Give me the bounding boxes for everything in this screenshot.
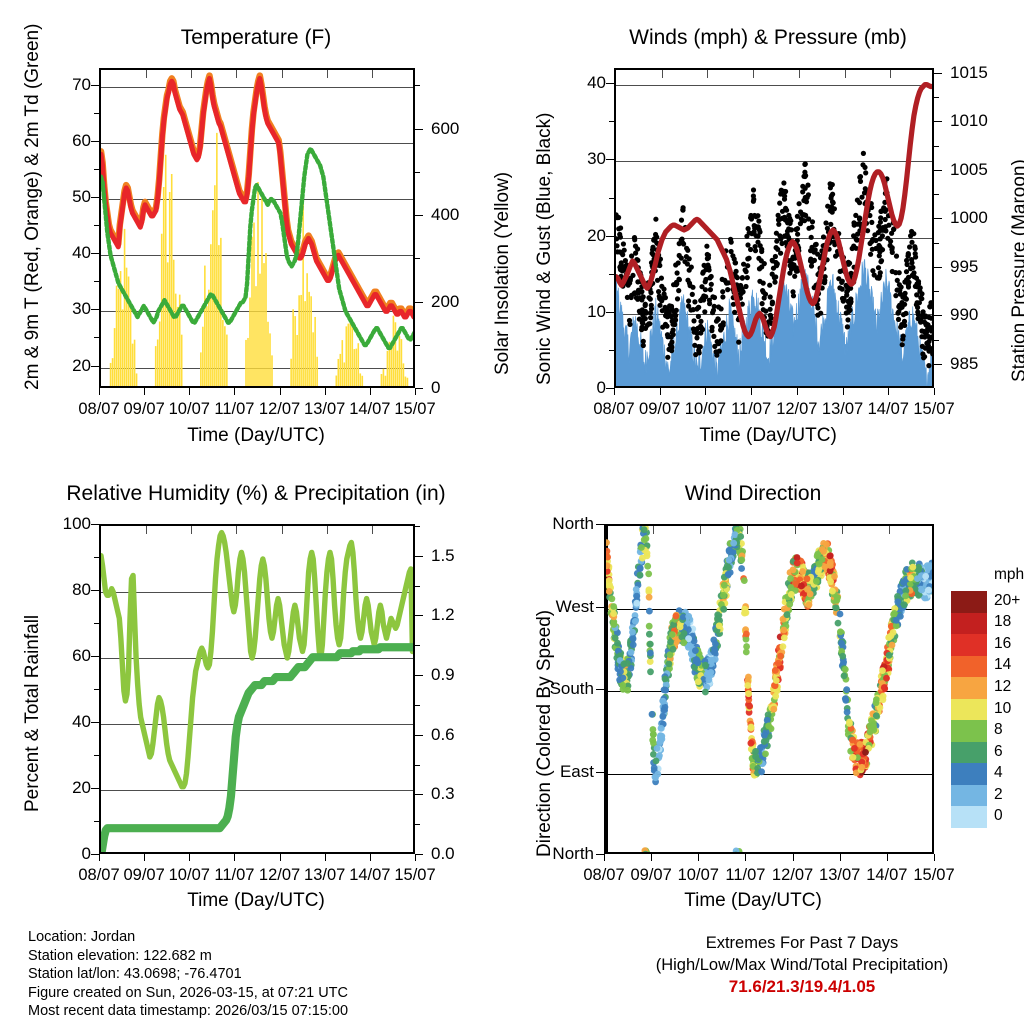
y-tick-mark xyxy=(91,656,99,657)
colorbar-tick-label: 0 xyxy=(994,807,1003,825)
x-tick-mark xyxy=(843,388,844,395)
y-tick-label: 20 xyxy=(552,226,606,246)
wind-direction-panel: Wind Direction Direction (Colored By Spe… xyxy=(512,462,1024,922)
right-y-tick-label: 0.6 xyxy=(431,725,455,745)
wind-direction-y-axis-label: Direction (Colored By Speed) xyxy=(534,610,556,857)
x-tick-mark xyxy=(751,388,752,395)
right-y-tick-mark xyxy=(415,735,423,736)
winds-pressure-panel: Winds (mph) & Pressure (mb) Sonic Wind &… xyxy=(512,0,1024,460)
y-tick-label: 100 xyxy=(37,514,91,534)
y-tick-label: 60 xyxy=(37,646,91,666)
right-y-tick-label: 0.0 xyxy=(431,844,455,864)
colorbar-segment xyxy=(951,763,987,785)
x-tick-mark xyxy=(934,388,935,395)
temperature-traces xyxy=(101,70,415,388)
x-tick-label: 10/07 xyxy=(169,866,210,885)
x-tick-label: 11/07 xyxy=(214,400,254,419)
x-tick-label: 15/07 xyxy=(394,400,435,419)
x-tick-mark xyxy=(415,854,416,861)
direction-tick-mark xyxy=(596,689,604,690)
x-tick-mark xyxy=(144,854,145,861)
colorbar-tick-label: 2 xyxy=(994,786,1003,804)
y-minor-tick xyxy=(609,350,614,351)
x-tick-label: 12/07 xyxy=(776,400,817,419)
y-tick-label: 80 xyxy=(37,580,91,600)
right-y-tick-label: 990 xyxy=(950,305,978,325)
y-minor-tick xyxy=(94,557,99,558)
y-minor-tick xyxy=(94,689,99,690)
y-tick-label: 20 xyxy=(37,778,91,798)
colorbar-segment xyxy=(951,634,987,656)
y-tick-mark xyxy=(91,590,99,591)
y-tick-mark xyxy=(91,197,99,198)
y-tick-mark xyxy=(91,253,99,254)
winds-pressure-traces xyxy=(616,70,934,388)
x-tick-label: 08/07 xyxy=(78,400,119,419)
x-tick-mark xyxy=(604,854,605,861)
y-minor-tick xyxy=(609,198,614,199)
right-y-minor-tick xyxy=(934,243,939,244)
right-y-tick-label: 0 xyxy=(431,378,440,398)
direction-tick-label: East xyxy=(528,762,594,782)
right-y-minor-tick xyxy=(415,345,420,346)
direction-tick-mark xyxy=(596,607,604,608)
colorbar-tick-label: 10 xyxy=(994,700,1011,718)
right-y-minor-tick xyxy=(934,340,939,341)
x-tick-mark xyxy=(705,388,706,395)
metadata-timestamp: Most recent data timestamp: 2026/03/15 0… xyxy=(28,1002,348,1021)
direction-tick-label: North xyxy=(528,514,594,534)
colorbar-tick-label: 4 xyxy=(994,764,1003,782)
wind-direction-plot-area xyxy=(604,524,934,854)
right-y-tick-label: 995 xyxy=(950,257,978,277)
x-tick-label: 12/07 xyxy=(772,866,813,885)
x-tick-label: 09/07 xyxy=(123,400,164,419)
y-tick-mark xyxy=(91,854,99,855)
right-y-minor-tick xyxy=(415,526,420,527)
right-y-tick-mark xyxy=(934,315,942,316)
y-tick-label: 40 xyxy=(552,73,606,93)
right-y-minor-tick xyxy=(934,97,939,98)
temperature-plot-area xyxy=(99,68,415,388)
x-tick-mark xyxy=(797,388,798,395)
right-y-minor-tick xyxy=(415,85,420,86)
winds-pressure-plot-area xyxy=(614,68,934,388)
right-y-minor-tick xyxy=(415,645,420,646)
colorbar-tick-label: 16 xyxy=(994,635,1011,653)
y-minor-tick xyxy=(609,274,614,275)
x-tick-label: 08/07 xyxy=(593,400,634,419)
y-tick-mark xyxy=(91,141,99,142)
x-tick-label: 09/07 xyxy=(630,866,671,885)
wind-speed-colorbar xyxy=(950,590,988,829)
colorbar-tick-label: 12 xyxy=(994,678,1011,696)
x-tick-label: 10/07 xyxy=(678,866,719,885)
x-tick-label: 13/07 xyxy=(819,866,860,885)
y-tick-mark xyxy=(91,788,99,789)
metadata-location: Location: Jordan xyxy=(28,928,348,947)
winds-pressure-title: Winds (mph) & Pressure (mb) xyxy=(512,26,1024,50)
x-tick-mark xyxy=(99,854,100,861)
direction-tick-mark xyxy=(596,524,604,525)
x-tick-label: 13/07 xyxy=(304,400,345,419)
extremes-title: Extremes For Past 7 Days xyxy=(592,932,1012,954)
right-y-tick-mark xyxy=(415,556,423,557)
right-y-tick-label: 1015 xyxy=(950,63,988,83)
colorbar-tick-label: 14 xyxy=(994,656,1011,674)
y-tick-mark xyxy=(91,722,99,723)
y-tick-label: 30 xyxy=(552,149,606,169)
y-minor-tick xyxy=(94,821,99,822)
y-tick-label: 70 xyxy=(37,75,91,95)
x-tick-label: 15/07 xyxy=(913,400,954,419)
colorbar-segment xyxy=(951,591,987,613)
right-y-minor-tick xyxy=(415,172,420,173)
colorbar-tick-label: 18 xyxy=(994,613,1011,631)
metadata-latlon: Station lat/lon: 43.0698; -76.4701 xyxy=(28,965,348,984)
right-y-tick-mark xyxy=(934,73,942,74)
y-tick-mark xyxy=(606,236,614,237)
x-tick-label: 15/07 xyxy=(394,866,435,885)
y-minor-tick xyxy=(94,623,99,624)
humidity-title: Relative Humidity (%) & Precipitation (i… xyxy=(0,482,512,506)
temperature-panel: Temperature (F) 2m & 9m T (Red, Orange) … xyxy=(0,0,512,460)
right-y-minor-tick xyxy=(934,291,939,292)
right-y-tick-label: 985 xyxy=(950,354,978,374)
y-minor-tick xyxy=(609,121,614,122)
x-tick-mark xyxy=(280,388,281,395)
right-y-tick-label: 1000 xyxy=(950,208,988,228)
y-tick-label: 10 xyxy=(552,302,606,322)
y-minor-tick xyxy=(94,113,99,114)
y-minor-tick xyxy=(94,169,99,170)
metadata-created: Figure created on Sun, 2026-03-15, at 07… xyxy=(28,984,348,1003)
metadata-elevation: Station elevation: 122.682 m xyxy=(28,947,348,966)
temperature-title: Temperature (F) xyxy=(0,26,512,50)
right-y-tick-mark xyxy=(934,170,942,171)
humidity-x-axis-label: Time (Day/UTC) xyxy=(0,890,512,912)
right-y-minor-tick xyxy=(415,765,420,766)
y-tick-mark xyxy=(606,312,614,313)
right-y-tick-mark xyxy=(934,267,942,268)
right-y-tick-mark xyxy=(415,854,423,855)
wind-direction-scatter xyxy=(606,526,934,854)
x-tick-label: 09/07 xyxy=(123,866,164,885)
y-minor-tick xyxy=(94,85,99,86)
station-metadata: Location: Jordan Station elevation: 122.… xyxy=(28,928,348,1021)
right-y-tick-label: 1010 xyxy=(950,111,988,131)
x-tick-mark xyxy=(234,388,235,395)
x-tick-mark xyxy=(189,388,190,395)
winds-x-axis-label: Time (Day/UTC) xyxy=(512,425,1024,447)
x-tick-label: 14/07 xyxy=(349,866,390,885)
right-y-tick-mark xyxy=(415,388,423,389)
colorbar-segment xyxy=(951,785,987,807)
y-tick-label: 0 xyxy=(37,844,91,864)
right-y-tick-mark xyxy=(415,675,423,676)
y-tick-label: 0 xyxy=(552,378,606,398)
x-tick-label: 14/07 xyxy=(866,866,907,885)
x-tick-label: 11/07 xyxy=(731,400,771,419)
x-tick-label: 11/07 xyxy=(214,866,254,885)
x-tick-mark xyxy=(370,854,371,861)
direction-tick-mark xyxy=(596,772,604,773)
x-tick-label: 08/07 xyxy=(78,866,119,885)
colorbar-segment xyxy=(951,699,987,721)
x-tick-label: 13/07 xyxy=(822,400,863,419)
direction-tick-label: South xyxy=(528,679,594,699)
right-y-minor-tick xyxy=(415,824,420,825)
right-y-tick-label: 200 xyxy=(431,292,459,312)
colorbar-units-label: mph xyxy=(994,566,1024,584)
x-tick-mark xyxy=(144,388,145,395)
x-tick-label: 11/07 xyxy=(725,866,765,885)
y-tick-label: 20 xyxy=(37,356,91,376)
x-tick-label: 13/07 xyxy=(304,866,345,885)
right-y-tick-mark xyxy=(415,302,423,303)
x-tick-mark xyxy=(888,388,889,395)
humidity-precip-panel: Relative Humidity (%) & Precipitation (i… xyxy=(0,462,512,922)
colorbar-segment xyxy=(951,677,987,699)
x-tick-mark xyxy=(745,854,746,861)
right-y-tick-label: 1.2 xyxy=(431,605,455,625)
y-tick-mark xyxy=(91,366,99,367)
x-tick-mark xyxy=(660,388,661,395)
pressure-right-y-axis-label: Station Pressure (Maroon) xyxy=(1009,159,1024,382)
y-tick-mark xyxy=(606,388,614,389)
right-y-tick-mark xyxy=(934,121,942,122)
right-y-tick-label: 1.5 xyxy=(431,546,455,566)
direction-tick-label: North xyxy=(528,844,594,864)
wind-direction-x-axis-label: Time (Day/UTC) xyxy=(482,890,1024,912)
right-y-minor-tick xyxy=(934,194,939,195)
y-minor-tick xyxy=(94,337,99,338)
humidity-precip-traces xyxy=(101,526,415,854)
right-y-minor-tick xyxy=(415,258,420,259)
y-tick-label: 60 xyxy=(37,131,91,151)
colorbar-segment xyxy=(951,742,987,764)
x-tick-label: 10/07 xyxy=(685,400,726,419)
x-tick-mark xyxy=(415,388,416,395)
right-y-tick-label: 0.3 xyxy=(431,784,455,804)
x-tick-mark xyxy=(793,854,794,861)
extremes-block: Extremes For Past 7 Days (High/Low/Max W… xyxy=(592,932,1012,998)
x-tick-mark xyxy=(99,388,100,395)
right-y-tick-mark xyxy=(415,615,423,616)
colorbar-tick-label: 6 xyxy=(994,743,1003,761)
right-y-tick-mark xyxy=(415,794,423,795)
x-tick-mark xyxy=(651,854,652,861)
x-tick-label: 08/07 xyxy=(583,866,624,885)
y-minor-tick xyxy=(94,281,99,282)
x-tick-label: 10/07 xyxy=(169,400,210,419)
x-tick-mark xyxy=(234,854,235,861)
extremes-values: 71.6/21.3/19.4/1.05 xyxy=(592,976,1012,998)
x-tick-label: 14/07 xyxy=(868,400,909,419)
x-tick-mark xyxy=(280,854,281,861)
x-tick-mark xyxy=(934,854,935,861)
x-tick-label: 09/07 xyxy=(639,400,680,419)
right-y-tick-label: 400 xyxy=(431,205,459,225)
direction-tick-mark xyxy=(596,854,604,855)
x-tick-mark xyxy=(840,854,841,861)
y-minor-tick xyxy=(94,755,99,756)
y-minor-tick xyxy=(94,225,99,226)
colorbar-segment xyxy=(951,720,987,742)
x-tick-label: 15/07 xyxy=(913,866,954,885)
y-tick-label: 40 xyxy=(37,243,91,263)
right-y-tick-mark xyxy=(934,218,942,219)
colorbar-segment xyxy=(951,656,987,678)
x-tick-mark xyxy=(614,388,615,395)
right-y-tick-mark xyxy=(415,129,423,130)
right-y-tick-mark xyxy=(934,364,942,365)
x-tick-mark xyxy=(698,854,699,861)
y-tick-label: 40 xyxy=(37,712,91,732)
x-tick-mark xyxy=(325,388,326,395)
x-tick-mark xyxy=(370,388,371,395)
x-tick-mark xyxy=(887,854,888,861)
right-y-tick-label: 0.9 xyxy=(431,665,455,685)
y-tick-mark xyxy=(91,524,99,525)
wind-direction-title: Wind Direction xyxy=(482,482,1024,506)
x-tick-label: 14/07 xyxy=(349,400,390,419)
x-tick-mark xyxy=(325,854,326,861)
y-tick-mark xyxy=(606,159,614,160)
y-tick-mark xyxy=(91,309,99,310)
extremes-subtitle: (High/Low/Max Wind/Total Precipitation) xyxy=(592,954,1012,976)
right-y-tick-label: 1005 xyxy=(950,160,988,180)
x-tick-mark xyxy=(189,854,190,861)
temperature-x-axis-label: Time (Day/UTC) xyxy=(0,425,512,447)
x-tick-label: 12/07 xyxy=(259,866,300,885)
right-y-tick-mark xyxy=(415,215,423,216)
right-y-minor-tick xyxy=(415,705,420,706)
direction-tick-label: West xyxy=(528,597,594,617)
y-tick-label: 30 xyxy=(37,299,91,319)
colorbar-segment xyxy=(951,613,987,635)
right-y-minor-tick xyxy=(934,146,939,147)
colorbar-tick-label: 8 xyxy=(994,721,1003,739)
colorbar-segment xyxy=(951,806,987,828)
right-y-minor-tick xyxy=(415,586,420,587)
x-tick-label: 12/07 xyxy=(259,400,300,419)
y-tick-mark xyxy=(606,83,614,84)
humidity-plot-area xyxy=(99,524,415,854)
y-tick-label: 50 xyxy=(37,187,91,207)
right-y-tick-label: 600 xyxy=(431,119,459,139)
temperature-right-y-axis-label: Solar Insolation (Yellow) xyxy=(492,172,514,375)
colorbar-tick-label: 20+ xyxy=(994,592,1020,610)
